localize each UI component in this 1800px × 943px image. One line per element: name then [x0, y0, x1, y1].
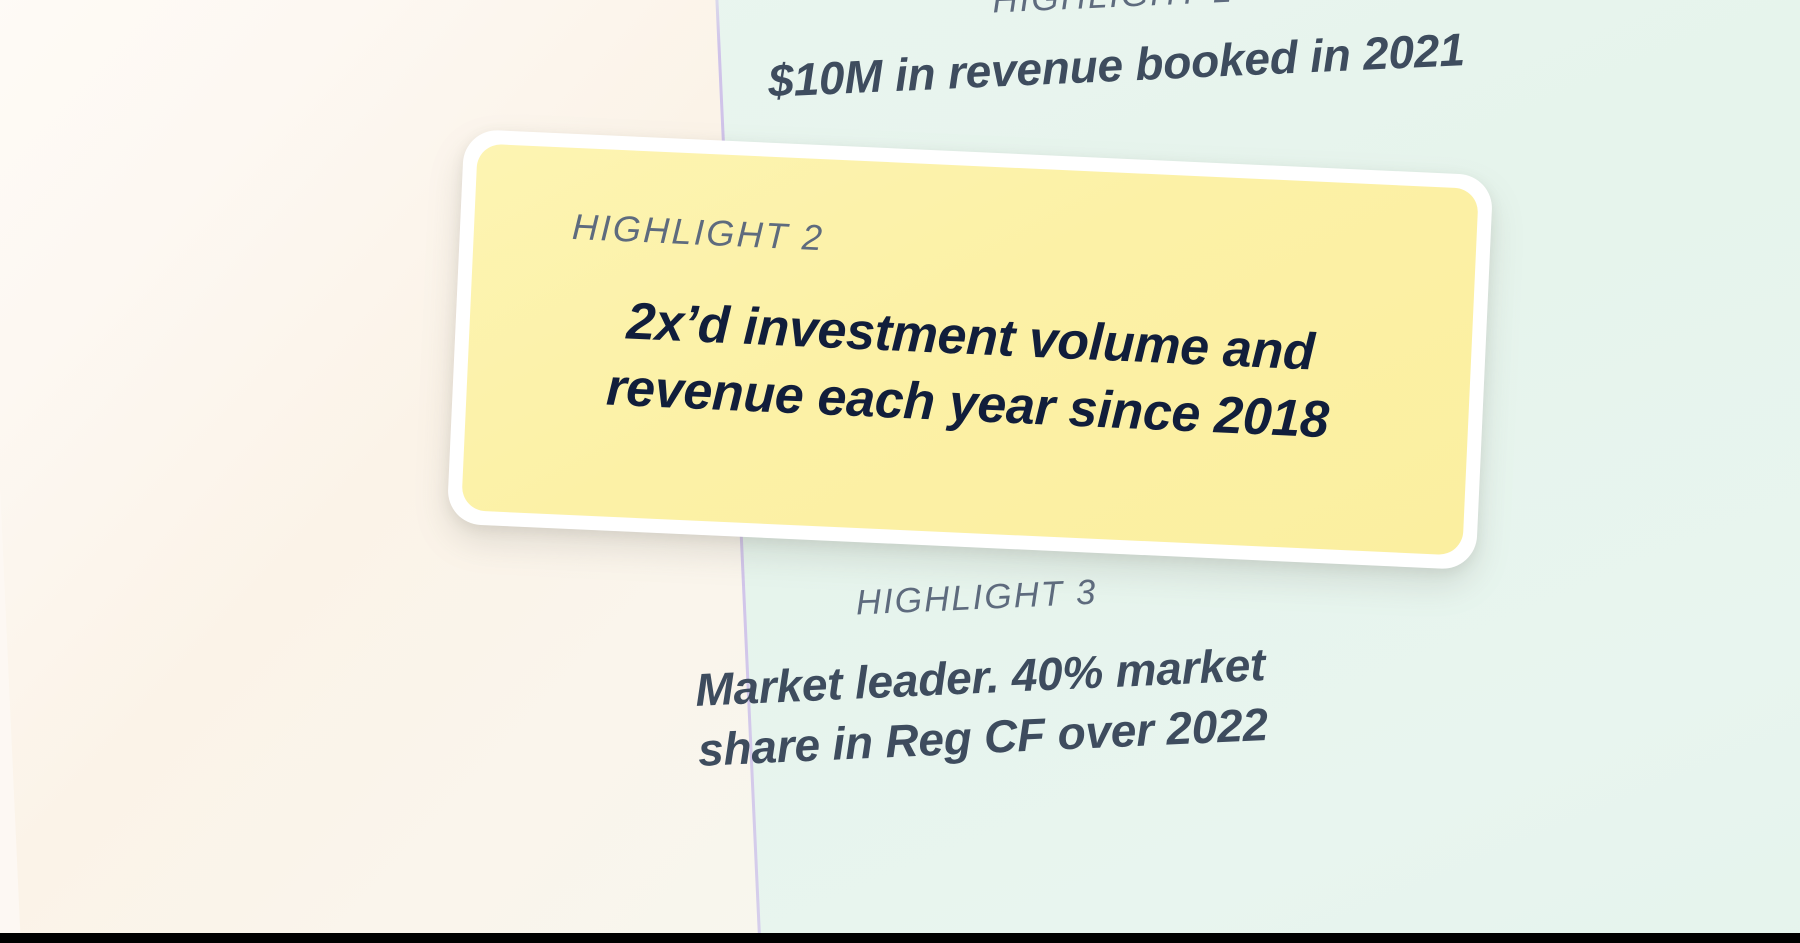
highlight-2-eyebrow: HIGHLIGHT 2	[571, 206, 825, 259]
highlight-card-3[interactable]: HIGHLIGHT 3 Market leader. 40% market sh…	[596, 561, 1364, 785]
highlight-card-2-featured[interactable]: HIGHLIGHT 2 2x’d investment volume and r…	[447, 129, 1494, 570]
highlight-2-body: 2x’d investment volume and revenue each …	[605, 288, 1333, 454]
bottom-black-bar	[0, 933, 1800, 943]
highlights-carousel-stage: HIGHLIGHT 1 $10M in revenue booked in 20…	[0, 0, 1800, 943]
featured-card-surface: HIGHLIGHT 2 2x’d investment volume and r…	[461, 143, 1479, 555]
